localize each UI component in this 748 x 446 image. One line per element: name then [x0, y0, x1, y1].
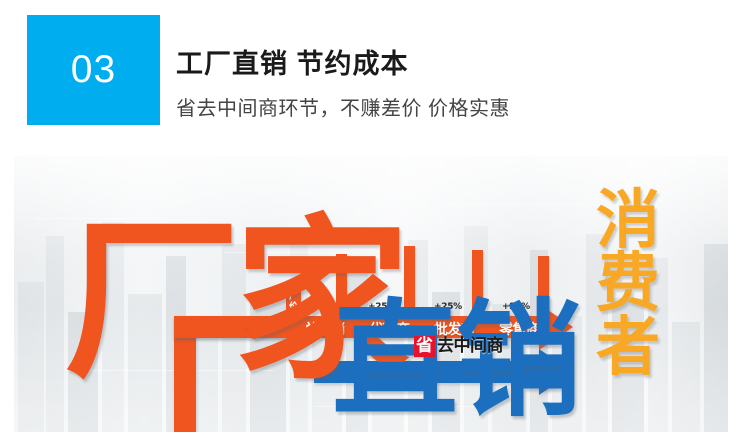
consumer-glyph: 消费者: [592, 190, 664, 380]
page-title: 工厂直销 节约成本: [176, 42, 409, 81]
step-number-badge: 03: [27, 15, 160, 125]
skip-middleman-highlight: 省: [414, 336, 435, 357]
direct-sale-glyph: 直销: [332, 298, 580, 424]
skip-middleman-badge: 省 去中间商: [414, 336, 503, 357]
header-section: 03 工厂直销 节约成本 省去中间商环节，不赚差价 价格实惠: [0, 0, 748, 152]
page-subtitle: 省去中间商环节，不赚差价 价格实惠: [176, 92, 510, 121]
distribution-diagram-banner: 出厂价 +25% +25% +25% +25% 总经销 代理商 批发商 零售商 …: [14, 156, 728, 432]
skip-middleman-text: 去中间商: [435, 336, 503, 357]
step-number-text: 03: [71, 48, 116, 92]
